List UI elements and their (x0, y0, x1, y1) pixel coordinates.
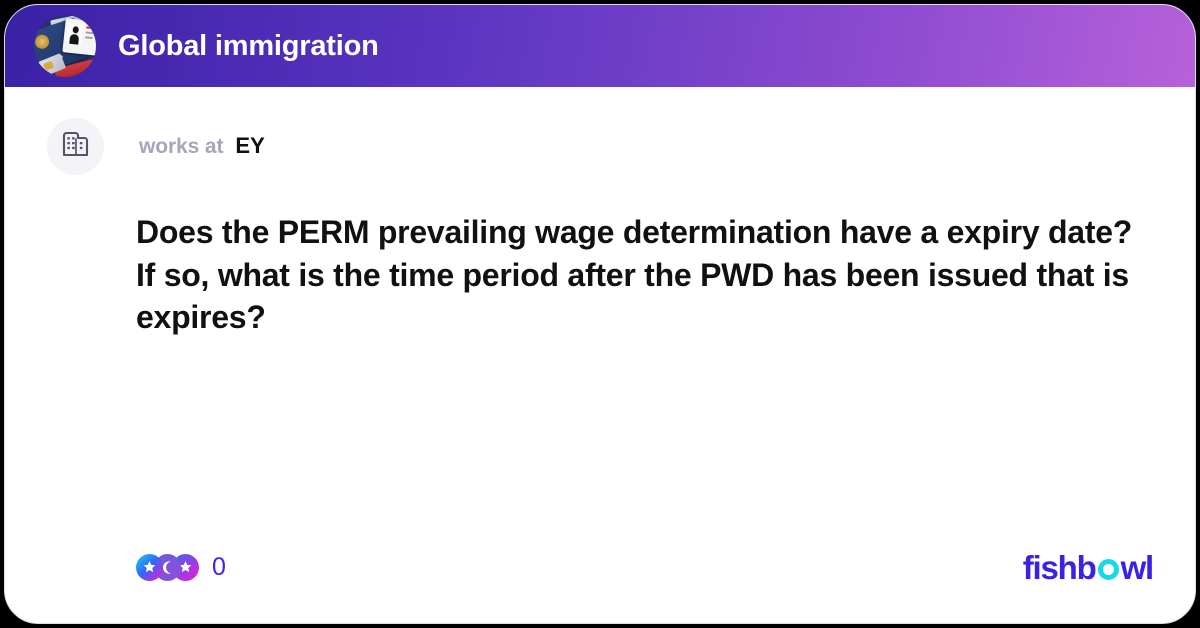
fishbowl-logo: fishb wl (1023, 551, 1153, 584)
group-avatar (34, 15, 96, 77)
group-title: Global immigration (118, 30, 379, 63)
author-row: works at EY (47, 117, 1153, 175)
author-meta: works at EY (139, 133, 265, 159)
avatar-id-lines (84, 26, 96, 45)
reaction-badges[interactable] (136, 554, 199, 581)
office-building-icon (60, 128, 92, 165)
company-avatar (47, 118, 104, 175)
reactions-group[interactable]: 0 (136, 554, 226, 581)
brand-suffix: wl (1121, 551, 1153, 584)
card-header: Global immigration (5, 5, 1195, 87)
reaction-count: 0 (212, 555, 226, 580)
fishbowl-ring-icon (1098, 559, 1119, 580)
avatar-id-card (62, 18, 96, 56)
works-at-label: works at (139, 135, 223, 159)
post-question-text: Does the PERM prevailing wage determinat… (136, 211, 1133, 339)
brand-prefix: fishb (1023, 551, 1096, 584)
card-body: works at EY Does the PERM prevailing wag… (5, 87, 1195, 623)
card-footer: 0 fishb wl (47, 545, 1153, 589)
star-reaction-icon[interactable] (136, 554, 163, 581)
post-card: Global immigration (4, 4, 1196, 624)
company-name: EY (235, 133, 264, 159)
avatar-id-photo (66, 23, 83, 45)
